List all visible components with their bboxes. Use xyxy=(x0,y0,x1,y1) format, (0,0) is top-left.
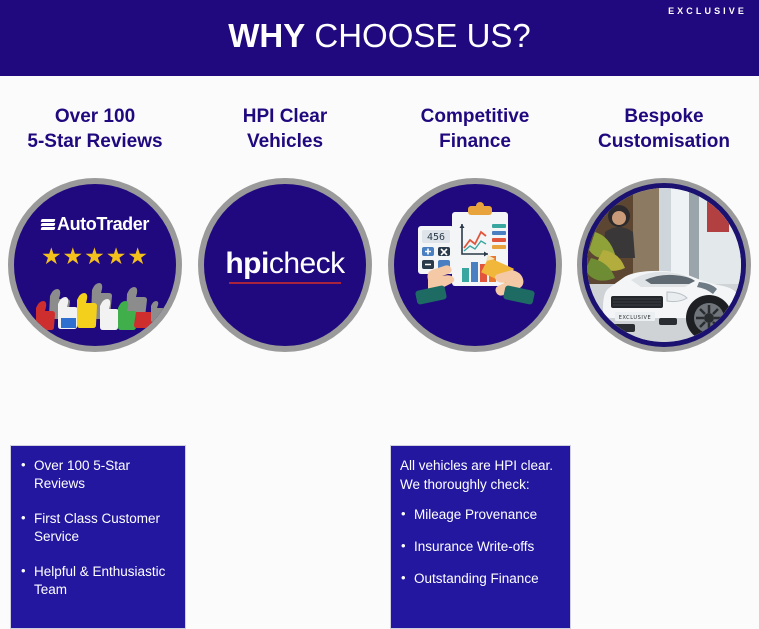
autotrader-logo: AutoTrader xyxy=(14,214,176,235)
hpi-logo-bold: hpi xyxy=(225,247,269,280)
five-star-rating: ★★★★★ xyxy=(14,244,176,268)
thumbs-up-group-icon xyxy=(14,278,176,334)
column-reviews: Over 100 5-Star Reviews AutoTrader ★★★★★ xyxy=(0,76,190,569)
badge-blue-frame: EXCLUSIVE xyxy=(582,183,746,347)
column-bespoke: Bespoke Customisation xyxy=(569,76,759,569)
list-item: Helpful & Enthusiastic Team xyxy=(20,563,177,599)
hpi-logo-underline xyxy=(229,282,341,284)
feature-columns: Over 100 5-Star Reviews AutoTrader ★★★★★ xyxy=(0,76,759,569)
reviews-bullet-list: Over 100 5-Star Reviews First Class Cust… xyxy=(20,457,177,599)
column-heading-line-2: Customisation xyxy=(598,131,730,152)
thumbs-up-icons xyxy=(14,278,176,334)
finance-illustration-badge: 456 xyxy=(388,178,562,352)
column-heading-line-1: Competitive xyxy=(421,106,530,127)
svg-text:456: 456 xyxy=(427,232,445,243)
finance-illustration: 456 xyxy=(394,184,556,346)
column-heading-line-1: Over 100 xyxy=(55,106,135,127)
brand-tag: EXCLUSIVE xyxy=(668,6,747,16)
page-title: WHY CHOOSE US? xyxy=(0,16,759,56)
header-banner: WHY CHOOSE US? EXCLUSIVE xyxy=(0,0,759,76)
badge-face: AutoTrader ★★★★★ xyxy=(14,184,176,346)
reviews-text-box: Over 100 5-Star Reviews First Class Cust… xyxy=(10,445,186,629)
badge-face: hpicheck xyxy=(204,184,366,346)
list-item: Over 100 5-Star Reviews xyxy=(20,457,177,493)
column-heading-line-2: 5-Star Reviews xyxy=(27,131,162,152)
autotrader-badge: AutoTrader ★★★★★ xyxy=(8,178,182,352)
column-hpi: HPI Clear Vehicles hpicheck All vehicles… xyxy=(190,76,380,569)
list-item: Outstanding Finance xyxy=(400,570,562,588)
column-finance: Competitive Finance xyxy=(380,76,570,569)
hpi-logo-light: check xyxy=(269,247,345,280)
autotrader-mark-icon xyxy=(41,218,55,231)
column-heading-finance: Competitive Finance xyxy=(380,104,570,154)
autotrader-logo-text: AutoTrader xyxy=(57,214,149,234)
badge-face: 456 xyxy=(394,184,556,346)
column-heading-line-1: Bespoke xyxy=(624,106,703,127)
column-heading-reviews: Over 100 5-Star Reviews xyxy=(0,104,190,154)
car-photo-badge: EXCLUSIVE xyxy=(577,178,751,352)
list-item: First Class Customer Service xyxy=(20,510,177,546)
column-heading-bespoke: Bespoke Customisation xyxy=(569,104,759,154)
hpi-check-logo: hpicheck xyxy=(204,247,366,284)
svg-text:EXCLUSIVE: EXCLUSIVE xyxy=(619,315,652,321)
column-heading-line-1: HPI Clear xyxy=(243,106,327,127)
column-heading-line-2: Vehicles xyxy=(247,131,323,152)
page-title-bold: WHY xyxy=(228,17,305,54)
hpi-check-badge: hpicheck xyxy=(198,178,372,352)
column-heading-hpi: HPI Clear Vehicles xyxy=(190,104,380,154)
column-heading-line-2: Finance xyxy=(439,131,511,152)
page-title-light: CHOOSE US? xyxy=(314,17,530,54)
car-photo: EXCLUSIVE xyxy=(587,188,741,342)
car-photo-image: EXCLUSIVE xyxy=(587,188,741,342)
